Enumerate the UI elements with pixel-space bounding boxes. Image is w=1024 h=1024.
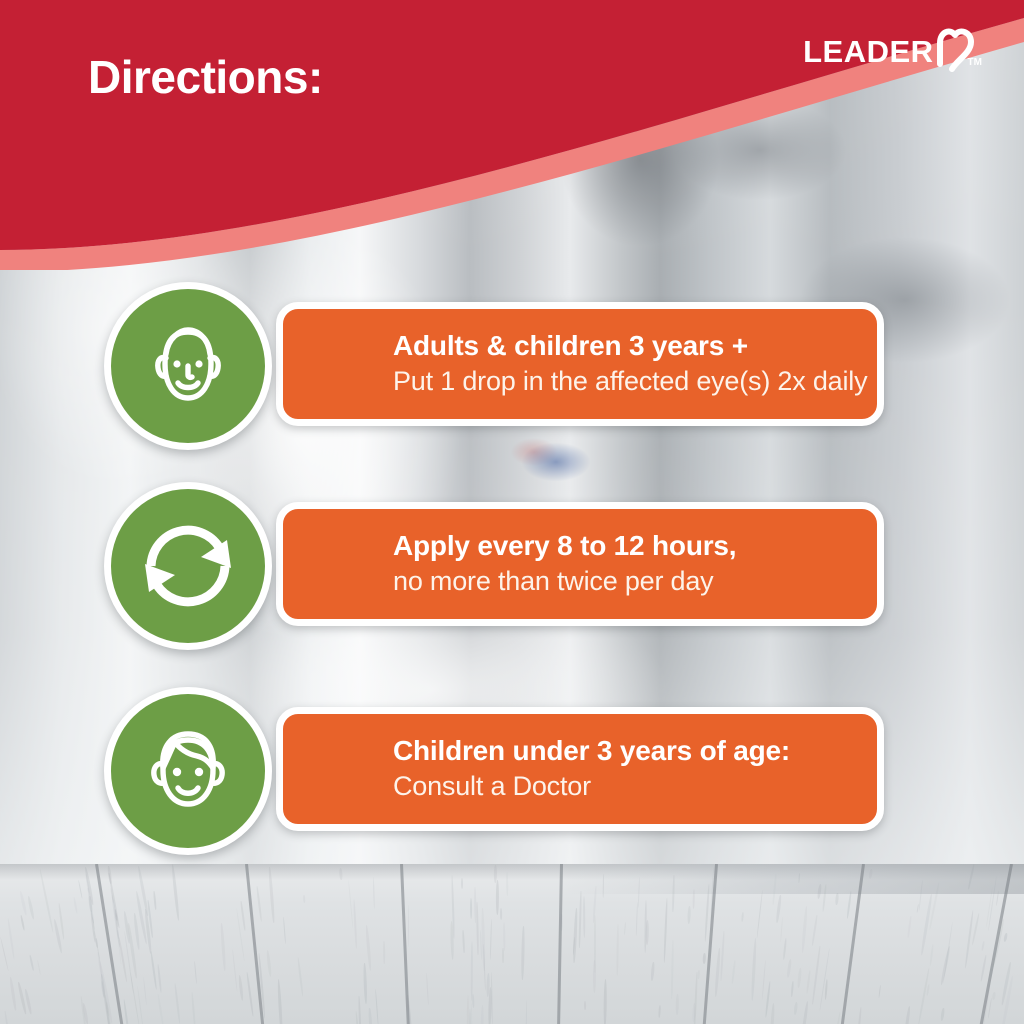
direction-row: Apply every 8 to 12 hours, no more than … [104, 482, 894, 658]
direction-title: Children under 3 years of age: [393, 735, 861, 767]
direction-bar: Apply every 8 to 12 hours, no more than … [276, 502, 884, 626]
direction-bar: Children under 3 years of age: Consult a… [276, 707, 884, 831]
direction-subtitle: Put 1 drop in the affected eye(s) 2x dai… [393, 365, 861, 397]
adult-face-icon [104, 282, 272, 450]
direction-row: Adults & children 3 years + Put 1 drop i… [104, 282, 894, 458]
direction-row: Children under 3 years of age: Consult a… [104, 687, 894, 863]
directions-list: Adults & children 3 years + Put 1 drop i… [0, 0, 1024, 1024]
direction-title: Adults & children 3 years + [393, 330, 861, 362]
direction-subtitle: no more than twice per day [393, 565, 861, 597]
direction-title: Apply every 8 to 12 hours, [393, 530, 861, 562]
directions-poster: Directions: LEADER TM Adults & children … [0, 0, 1024, 1024]
direction-subtitle: Consult a Doctor [393, 770, 861, 802]
refresh-cycle-icon [104, 482, 272, 650]
direction-bar: Adults & children 3 years + Put 1 drop i… [276, 302, 884, 426]
child-face-icon [104, 687, 272, 855]
